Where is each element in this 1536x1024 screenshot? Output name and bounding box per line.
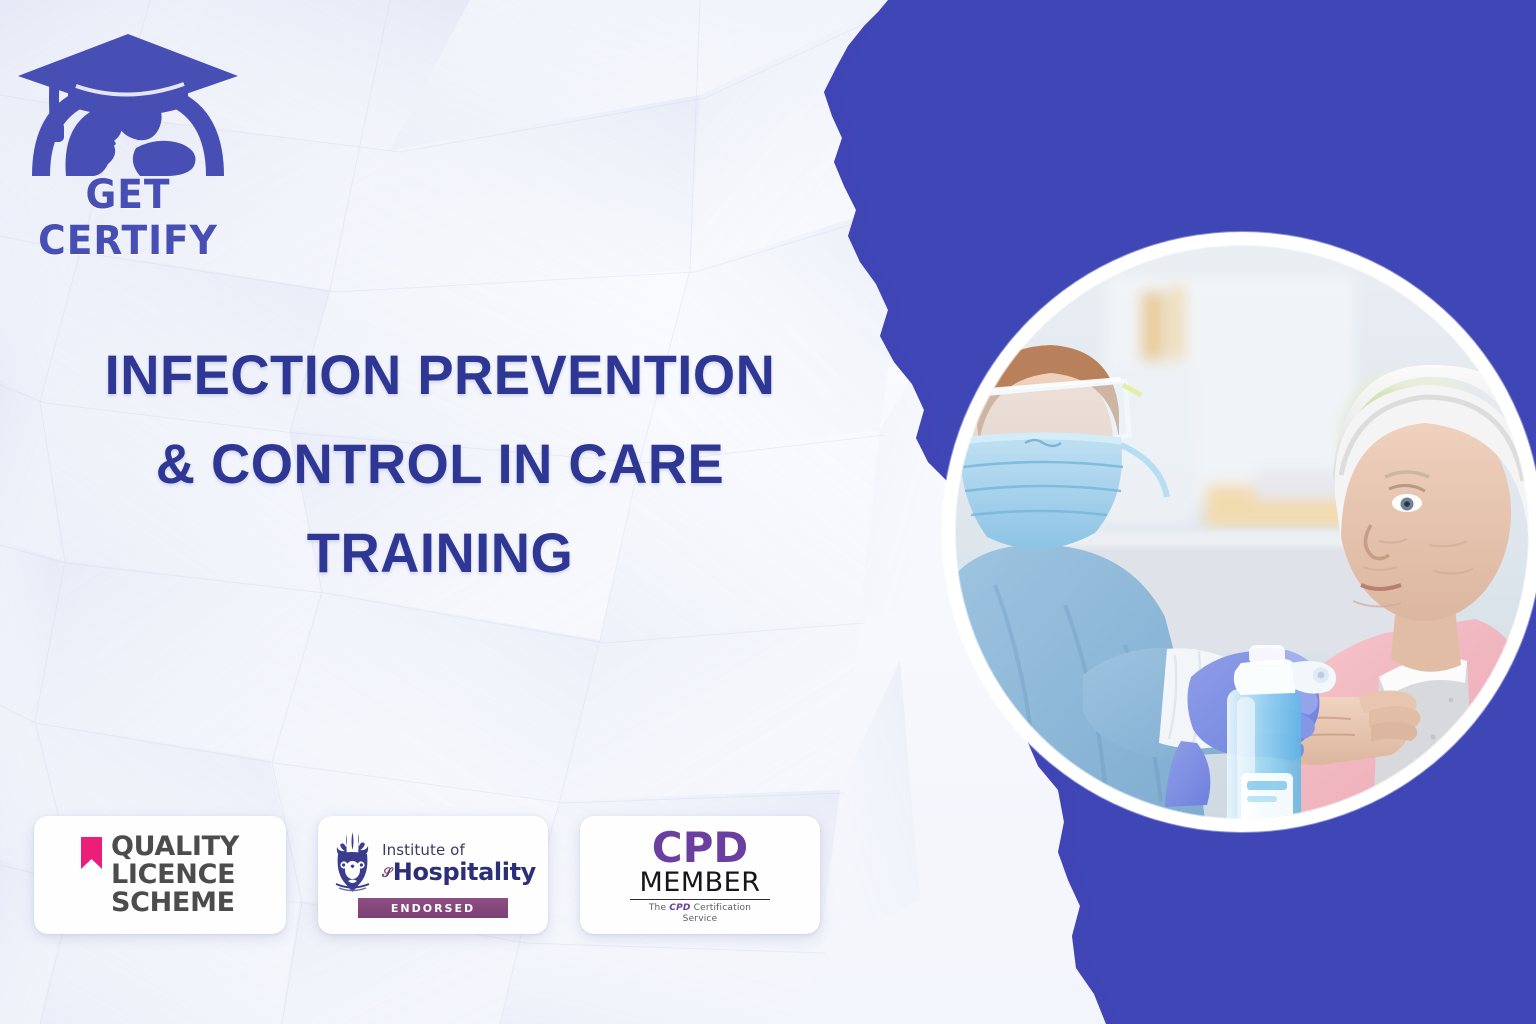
bookmark-icon [81, 837, 102, 869]
graduation-cap-globe-icon [16, 30, 240, 178]
qls-line-3: SCHEME [111, 889, 239, 917]
qls-line-1: QUALITY [111, 833, 239, 861]
cpd-divider [630, 899, 770, 900]
cpd-member-label: MEMBER [640, 868, 761, 898]
ioh-endorsed-ribbon: ENDORSED [358, 898, 508, 918]
headline-line-3: TRAINING [52, 508, 828, 597]
cpd-tagline-prefix: The [649, 903, 669, 913]
page-title: INFECTION PREVENTION & CONTROL IN CARE T… [40, 330, 840, 597]
brand-logo[interactable]: GET CERTIFY [16, 30, 240, 225]
care-scene-illustration [955, 245, 1529, 819]
hero-photo-ring [942, 232, 1536, 832]
badge-institute-of-hospitality[interactable]: Institute of Hospitality ENDORSED [318, 816, 548, 934]
cpd-tagline-line2: Service [683, 914, 718, 924]
cpd-logo-text: CPD [652, 826, 748, 870]
headline-line-1: INFECTION PREVENTION [52, 330, 828, 419]
ioh-hospitality-label: Hospitality [382, 860, 536, 884]
ioh-institute-label: Institute of [382, 843, 536, 858]
cpd-logo-icon: CPD [640, 826, 760, 870]
cpd-tagline-suffix: Certification [691, 903, 752, 913]
hero-photo [955, 245, 1529, 819]
badge-cpd-member[interactable]: CPD MEMBER The CPD Certification Service [580, 816, 820, 934]
badge-quality-licence-scheme[interactable]: QUALITY LICENCE SCHEME [34, 816, 286, 934]
cpd-tagline-brand: CPD [669, 903, 690, 913]
course-promo-banner: GET CERTIFY INFECTION PREVENTION & CONTR… [0, 0, 1536, 1024]
heraldic-crest-icon [330, 832, 375, 894]
brand-wordmark: GET CERTIFY [23, 172, 234, 264]
cpd-tagline: The CPD Certification Service [620, 903, 780, 925]
headline-line-2: & CONTROL IN CARE [52, 419, 828, 508]
accreditation-badges: QUALITY LICENCE SCHEME [34, 816, 820, 934]
qls-line-2: LICENCE [111, 861, 239, 889]
